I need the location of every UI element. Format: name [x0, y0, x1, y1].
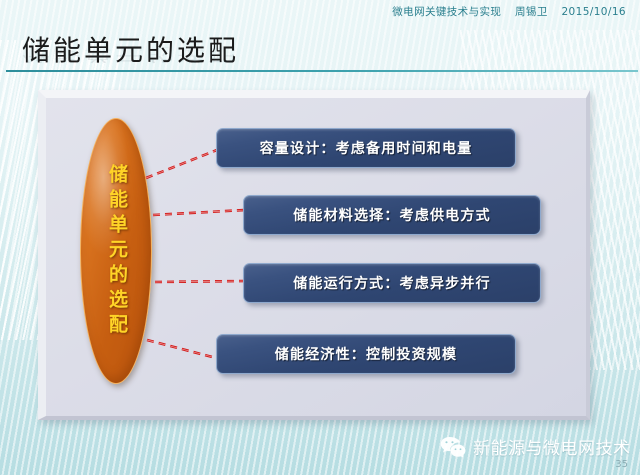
diagram-item-0-label: 容量设计：考虑备用时间和电量	[260, 138, 473, 158]
title-underline-rule	[6, 70, 638, 72]
diagram-item-3-label: 储能经济性：控制投资规模	[275, 344, 457, 364]
slide-header: 微电网关键技术与实现 周锡卫 2015/10/16	[392, 4, 626, 19]
title-zone: 储能单元的选配 储能单元的选配	[22, 34, 622, 90]
diagram-item-1[interactable]: 储能材料选择：考虑供电方式	[243, 195, 541, 235]
header-date: 2015/10/16	[561, 6, 626, 18]
header-topic: 微电网关键技术与实现	[392, 6, 501, 18]
footer-watermark: 新能源与微电网技术	[440, 434, 631, 459]
diagram-item-2[interactable]: 储能运行方式：考虑异步并行	[243, 263, 541, 303]
wechat-icon	[440, 436, 466, 458]
page-title: 储能单元的选配	[22, 34, 622, 68]
watermark-label: 新能源与微电网技术	[473, 434, 631, 459]
slide: 微电网关键技术与实现 周锡卫 2015/10/16 储能单元的选配 储能单元的选…	[0, 0, 640, 475]
page-number: 35	[615, 459, 628, 470]
header-author: 周锡卫	[515, 6, 548, 18]
diagram-item-1-label: 储能材料选择：考虑供电方式	[293, 205, 491, 225]
diagram-item-2-label: 储能运行方式：考虑异步并行	[293, 273, 491, 293]
center-node-oval[interactable]: 储能单元的选配	[80, 118, 152, 384]
diagram-item-3[interactable]: 储能经济性：控制投资规模	[216, 334, 516, 374]
diagram-item-0[interactable]: 容量设计：考虑备用时间和电量	[216, 128, 516, 168]
center-node-label: 储能单元的选配	[106, 164, 126, 339]
